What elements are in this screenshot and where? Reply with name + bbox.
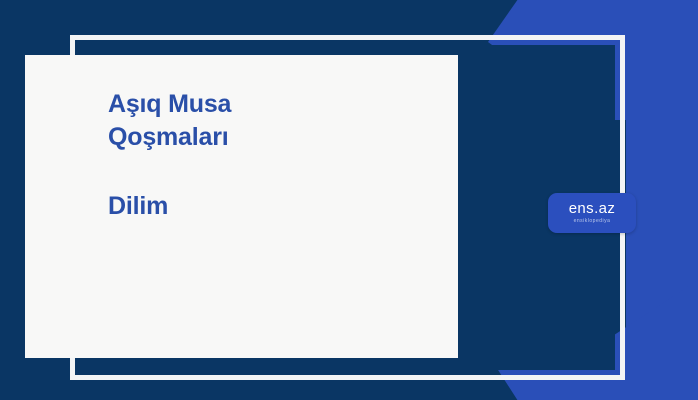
logo-wordmark: ens.az bbox=[569, 201, 616, 216]
accent-band-right bbox=[626, 0, 698, 400]
title-text-block: Aşıq Musa Qoşmaları Dilim bbox=[108, 88, 408, 223]
title-line-2: Qoşmaları bbox=[108, 121, 408, 154]
title-line-1: Aşıq Musa bbox=[108, 88, 408, 121]
subtitle: Dilim bbox=[108, 190, 408, 223]
logo-tagline: ensiklopediya bbox=[574, 218, 611, 225]
ens-az-logo-badge[interactable]: ens.az ensiklopediya bbox=[548, 193, 636, 233]
title-slide: Aşıq Musa Qoşmaları Dilim ens.az ensiklo… bbox=[0, 0, 698, 400]
